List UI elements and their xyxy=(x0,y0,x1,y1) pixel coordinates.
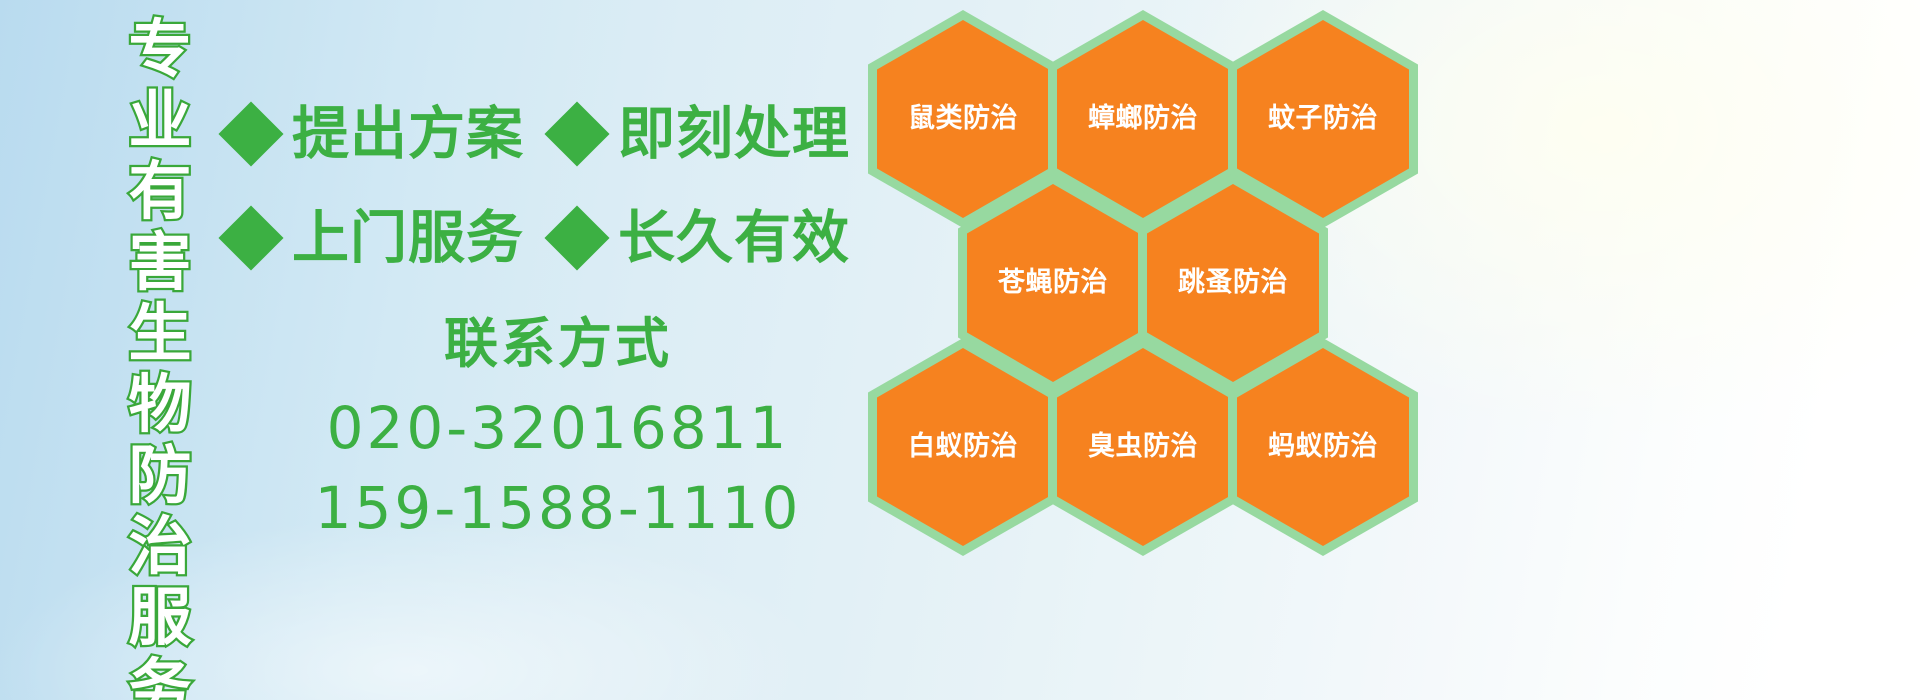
service-hex-label: 蟑螂防治 xyxy=(1088,104,1198,134)
vertical-headline-char: 服 xyxy=(129,582,192,653)
service-hex-label: 跳蚤防治 xyxy=(1178,268,1288,298)
feature-item: 提出方案 xyxy=(228,104,524,164)
service-hex-bedbug[interactable]: 臭虫防治 xyxy=(1048,338,1238,556)
vertical-headline-char: 专 xyxy=(129,14,192,85)
service-honeycomb: 鼠类防治 蟑螂防治 蚊子防治 苍蝇防治 跳蚤防治 白蚁防治 xyxy=(860,0,1480,700)
contact-heading: 联系方式 xyxy=(248,312,868,376)
vertical-headline-char: 治 xyxy=(129,511,192,582)
vertical-headline-char: 务 xyxy=(129,653,192,700)
feature-label: 上门服务 xyxy=(292,208,524,268)
contact-block: 联系方式 020-32016811 159-1588-1110 xyxy=(248,312,868,548)
contact-phone-mobile[interactable]: 159-1588-1110 xyxy=(248,468,868,548)
service-hex-label: 鼠类防治 xyxy=(908,104,1018,134)
feature-item: 长久有效 xyxy=(554,208,850,268)
feature-item: 上门服务 xyxy=(228,208,524,268)
service-hex-label: 蚊子防治 xyxy=(1268,104,1378,134)
vertical-headline-char: 有 xyxy=(129,156,192,227)
diamond-icon xyxy=(544,205,609,270)
feature-label: 即刻处理 xyxy=(618,104,850,164)
diamond-icon xyxy=(544,101,609,166)
contact-phone-landline[interactable]: 020-32016811 xyxy=(248,388,868,468)
feature-label: 提出方案 xyxy=(292,104,524,164)
vertical-headline-char: 物 xyxy=(129,369,192,440)
vertical-headline: 专 业 有 害 生 物 防 治 服 务 xyxy=(112,14,208,674)
service-hex-label: 白蚁防治 xyxy=(908,432,1018,462)
vertical-headline-char: 生 xyxy=(129,298,192,369)
feature-list: 提出方案 即刻处理 上门服务 长久有效 xyxy=(228,82,868,290)
service-hex-label: 苍蝇防治 xyxy=(998,268,1108,298)
vertical-headline-char: 防 xyxy=(129,440,192,511)
vertical-headline-char: 业 xyxy=(129,85,192,156)
service-hex-label: 蚂蚁防治 xyxy=(1268,432,1378,462)
diamond-icon xyxy=(218,101,283,166)
service-hex-termite[interactable]: 白蚁防治 xyxy=(868,338,1058,556)
feature-item: 即刻处理 xyxy=(554,104,850,164)
feature-label: 长久有效 xyxy=(618,208,850,268)
diamond-icon xyxy=(218,205,283,270)
service-hex-ant[interactable]: 蚂蚁防治 xyxy=(1228,338,1418,556)
vertical-headline-char: 害 xyxy=(129,227,192,298)
feature-row: 上门服务 长久有效 xyxy=(228,186,868,290)
service-hex-label: 臭虫防治 xyxy=(1088,432,1198,462)
pest-control-banner: 专 业 有 害 生 物 防 治 服 务 提出方案 即刻处理 上门服务 xyxy=(0,0,1920,700)
feature-row: 提出方案 即刻处理 xyxy=(228,82,868,186)
